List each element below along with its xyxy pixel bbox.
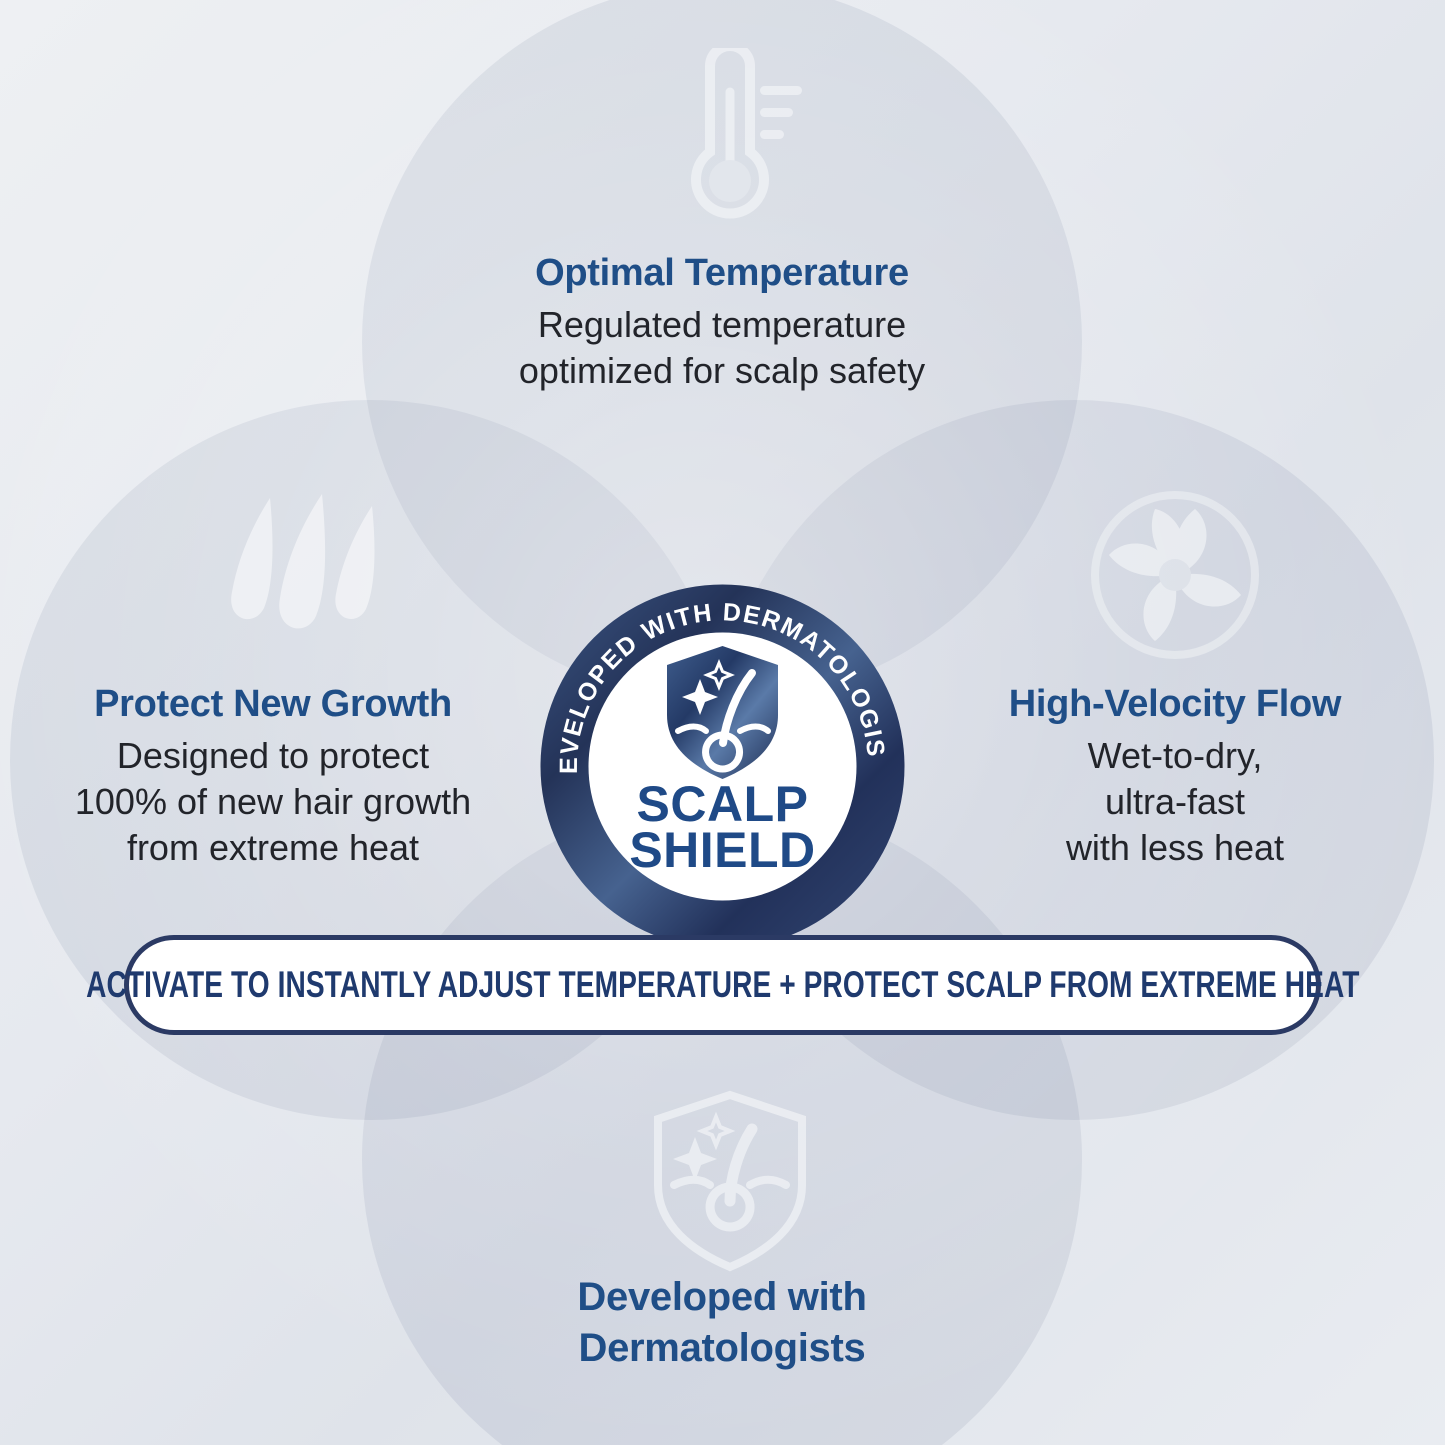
feature-desc-right-line-3: with less heat: [910, 825, 1440, 871]
feature-protect-new-growth: Protect New Growth Designed to protect 1…: [8, 683, 538, 871]
feature-title-top: Optimal Temperature: [372, 252, 1072, 296]
feature-desc-left-line-3: from extreme heat: [8, 825, 538, 871]
thermometer-icon: [648, 48, 818, 223]
feature-desc-left-line-2: 100% of new hair growth: [8, 779, 538, 825]
feature-desc-left-line-1: Designed to protect: [8, 733, 538, 779]
feature-title-left: Protect New Growth: [8, 683, 538, 727]
activate-banner-text: ACTIVATE TO INSTANTLY ADJUST TEMPERATURE…: [86, 964, 1359, 1006]
feature-high-velocity-flow: High-Velocity Flow Wet-to-dry, ultra-fas…: [910, 683, 1440, 871]
feature-optimal-temperature: Optimal Temperature Regulated temperatur…: [372, 252, 1072, 394]
feature-title-bottom-line-2: Dermatologists: [372, 1323, 1072, 1374]
scalp-shield-infographic: Optimal Temperature Regulated temperatur…: [0, 0, 1445, 1445]
feature-desc-left: Designed to protect 100% of new hair gro…: [8, 733, 538, 871]
feature-desc-top-line-2: optimized for scalp safety: [372, 348, 1072, 394]
shield-hair-icon: [640, 1085, 820, 1275]
feature-desc-top: Regulated temperature optimized for scal…: [372, 302, 1072, 394]
fan-icon: [1085, 485, 1265, 665]
badge-wordmark-line-2: SHIELD: [629, 822, 815, 878]
scalp-shield-badge: DEVELOPED WITH DERMATOLOGISTS STYLIST AP…: [537, 581, 908, 952]
hair-follicles-icon: [212, 492, 387, 642]
feature-developed-with-dermatologists: Developed with Dermatologists: [372, 1272, 1072, 1380]
feature-desc-right-line-1: Wet-to-dry,: [910, 733, 1440, 779]
feature-desc-right-line-2: ultra-fast: [910, 779, 1440, 825]
activate-banner[interactable]: ACTIVATE TO INSTANTLY ADJUST TEMPERATURE…: [124, 935, 1321, 1035]
feature-desc-top-line-1: Regulated temperature: [372, 302, 1072, 348]
feature-title-right: High-Velocity Flow: [910, 683, 1440, 727]
feature-desc-right: Wet-to-dry, ultra-fast with less heat: [910, 733, 1440, 871]
feature-title-bottom-line-1: Developed with: [372, 1272, 1072, 1323]
feature-title-bottom: Developed with Dermatologists: [372, 1272, 1072, 1374]
